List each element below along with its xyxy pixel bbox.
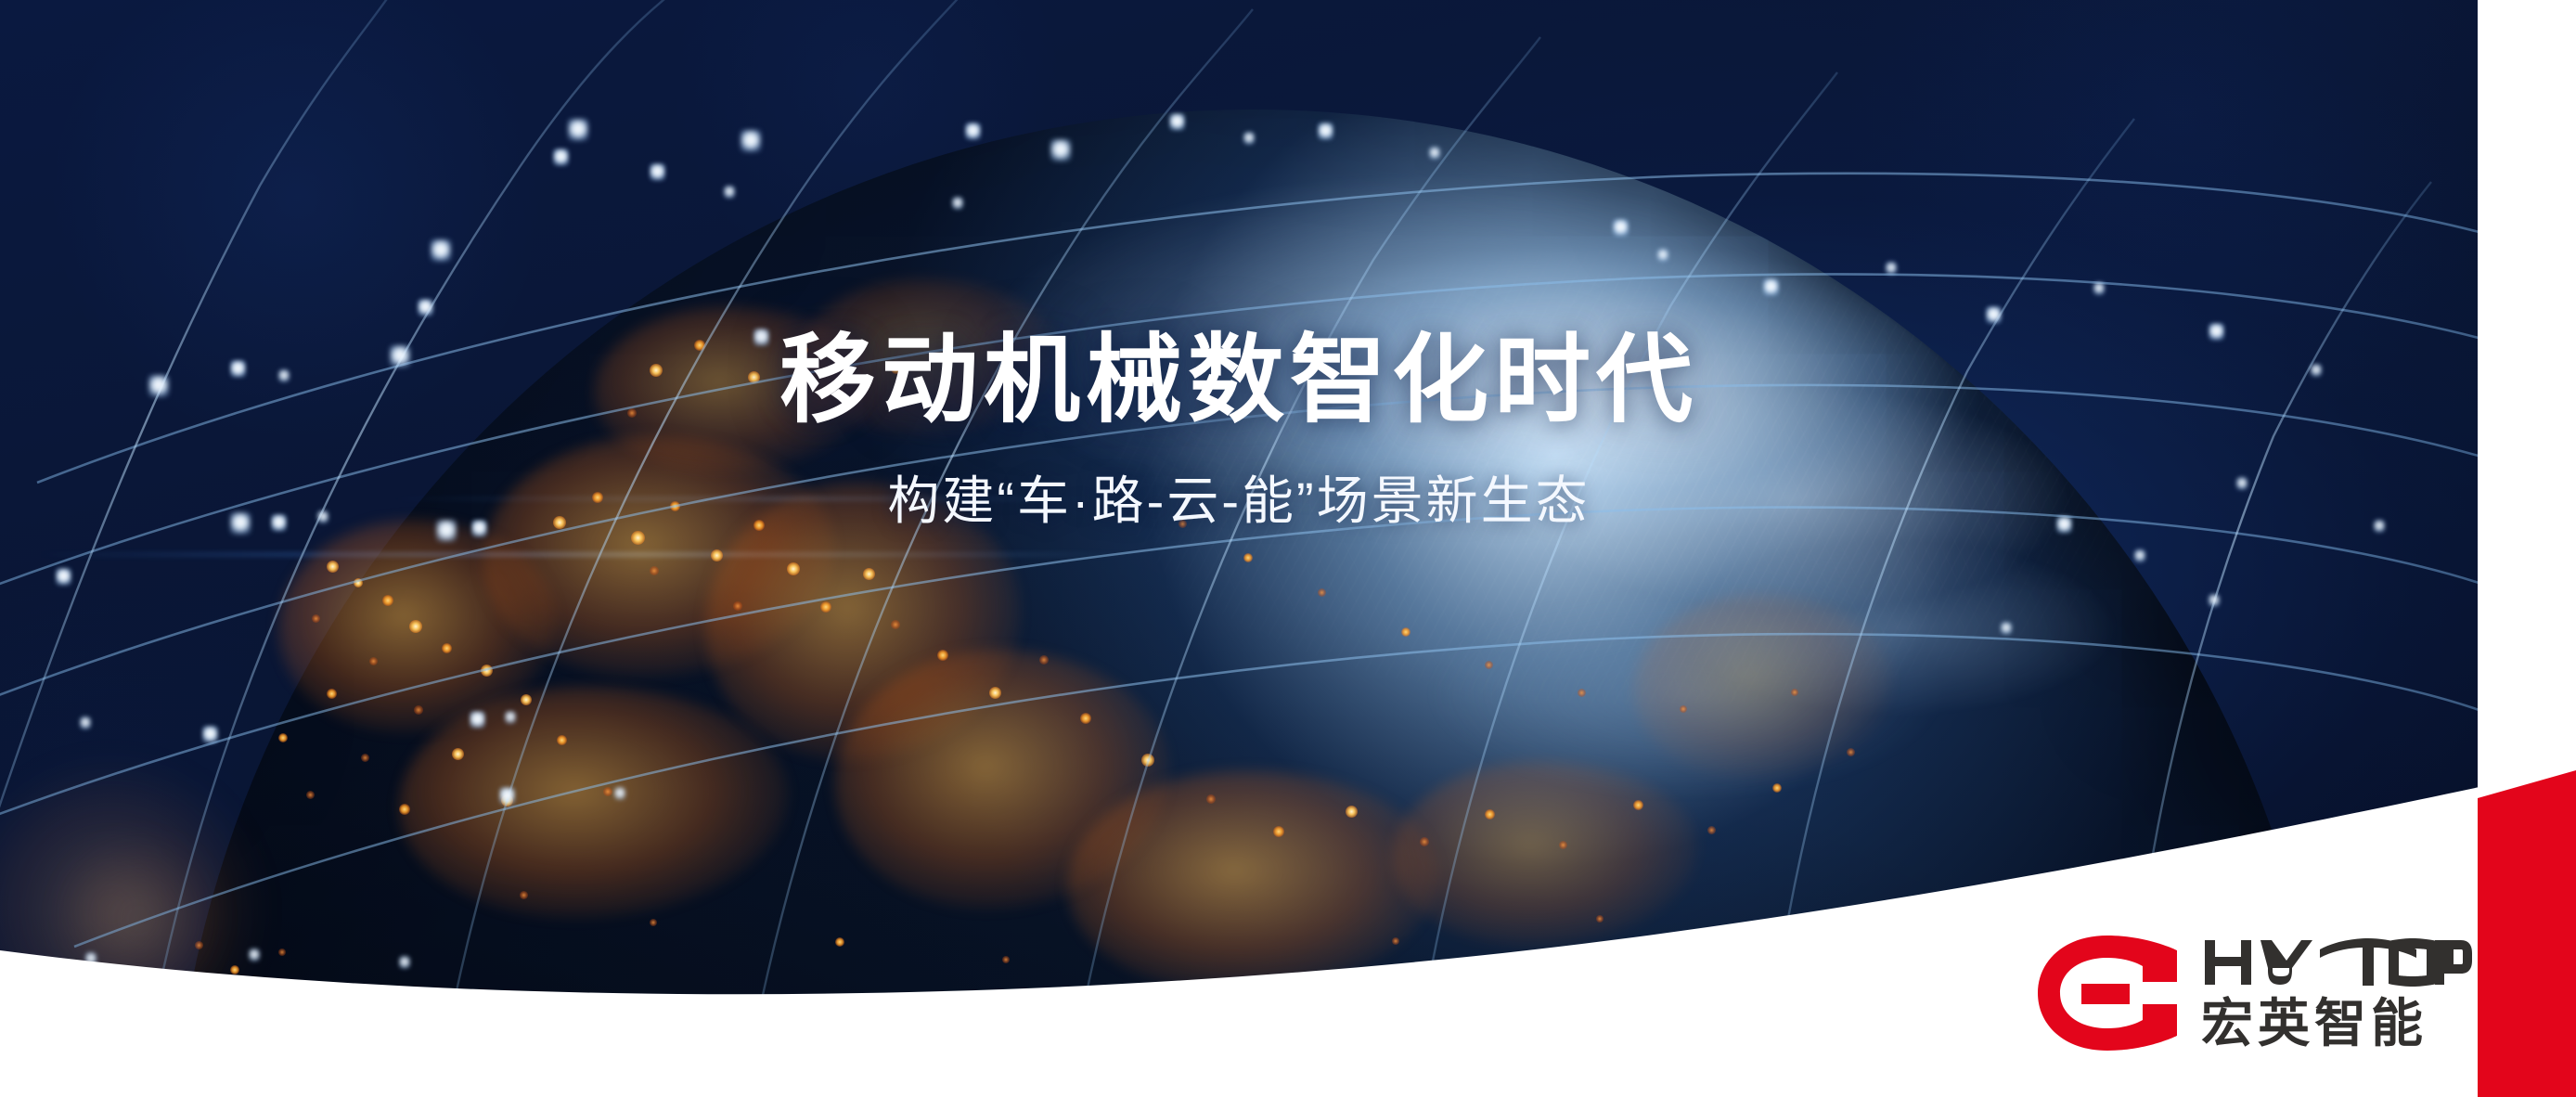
page-title: 移动机械数智化时代 — [0, 327, 2478, 434]
mesh-node — [80, 716, 91, 729]
mesh-node — [431, 239, 451, 262]
mesh-node — [1429, 147, 1440, 160]
headline-group: 移动机械数智化时代 构建“车·路-云-能”场景新生态 — [0, 327, 2478, 533]
mesh-node — [650, 163, 665, 181]
mesh-node — [568, 119, 588, 141]
mesh-node — [1646, 961, 1657, 974]
mesh-node — [1657, 249, 1668, 262]
mesh-node — [1886, 262, 1897, 275]
mesh-node — [1524, 961, 1539, 979]
mesh-node — [1243, 132, 1255, 145]
mesh-node — [399, 956, 410, 969]
mesh-node — [2001, 622, 2012, 635]
hytop-g-mark-icon — [2038, 936, 2177, 1051]
mesh-node — [2093, 282, 2105, 295]
company-logo: 宏英智能 — [2038, 936, 2472, 1051]
mesh-node — [952, 197, 963, 210]
logo-text-block: 宏英智能 — [2201, 936, 2472, 1050]
mesh-node — [505, 711, 516, 724]
mesh-node — [249, 949, 260, 961]
mesh-node — [724, 186, 735, 199]
mesh-node — [965, 123, 981, 140]
mesh-node — [1318, 123, 1333, 140]
mesh-node — [202, 726, 218, 743]
hytop-wordmark-icon — [2201, 936, 2472, 988]
mesh-node — [1763, 278, 1779, 296]
mesh-node — [2209, 594, 2220, 607]
title-slide: 移动机械数智化时代 构建“车·路-云-能”场景新生态 — [0, 0, 2576, 1097]
mesh-node — [1050, 139, 1071, 161]
mesh-node — [56, 568, 71, 586]
mesh-node — [418, 299, 433, 316]
mesh-node — [85, 952, 97, 965]
mesh-node — [2134, 549, 2145, 562]
mesh-node — [1986, 306, 2002, 324]
mesh-node — [741, 130, 761, 152]
mesh-node — [470, 711, 485, 729]
mesh-node — [1169, 113, 1185, 131]
hero-background-image — [0, 0, 2478, 1097]
red-accent-bar — [2478, 770, 2576, 1097]
mesh-node — [499, 787, 515, 805]
network-mesh-overlay — [0, 0, 2478, 1097]
mesh-node — [553, 148, 569, 166]
mesh-node — [614, 787, 625, 800]
mesh-node — [1613, 219, 1629, 237]
page-subtitle: 构建“车·路-云-能”场景新生态 — [0, 470, 2478, 532]
company-name-cn: 宏英智能 — [2201, 998, 2472, 1050]
